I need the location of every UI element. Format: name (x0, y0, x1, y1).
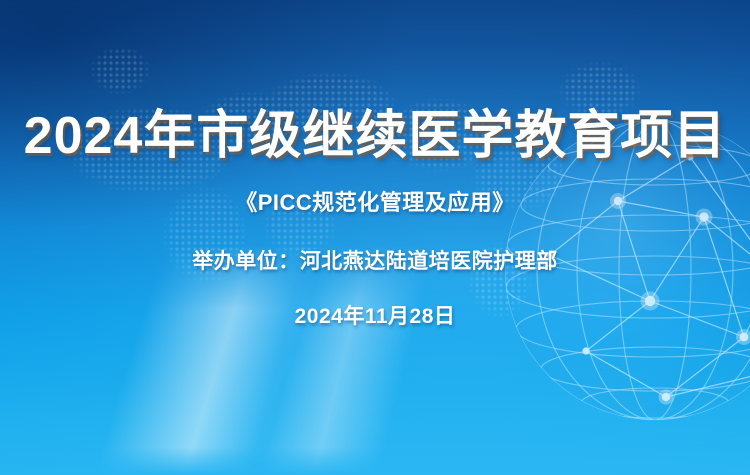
course-subtitle: 《PICC规范化管理及应用》 (235, 185, 515, 217)
event-date: 2024年11月28日 (295, 300, 456, 330)
organizer-line: 举办单位：河北燕达陆道培医院护理部 (192, 245, 558, 275)
conference-banner: 2024年市级继续医学教育项目 《PICC规范化管理及应用》 举办单位：河北燕达… (0, 0, 750, 475)
banner-content: 2024年市级继续医学教育项目 《PICC规范化管理及应用》 举办单位：河北燕达… (0, 0, 750, 475)
page-title: 2024年市级继续医学教育项目 (24, 108, 727, 164)
